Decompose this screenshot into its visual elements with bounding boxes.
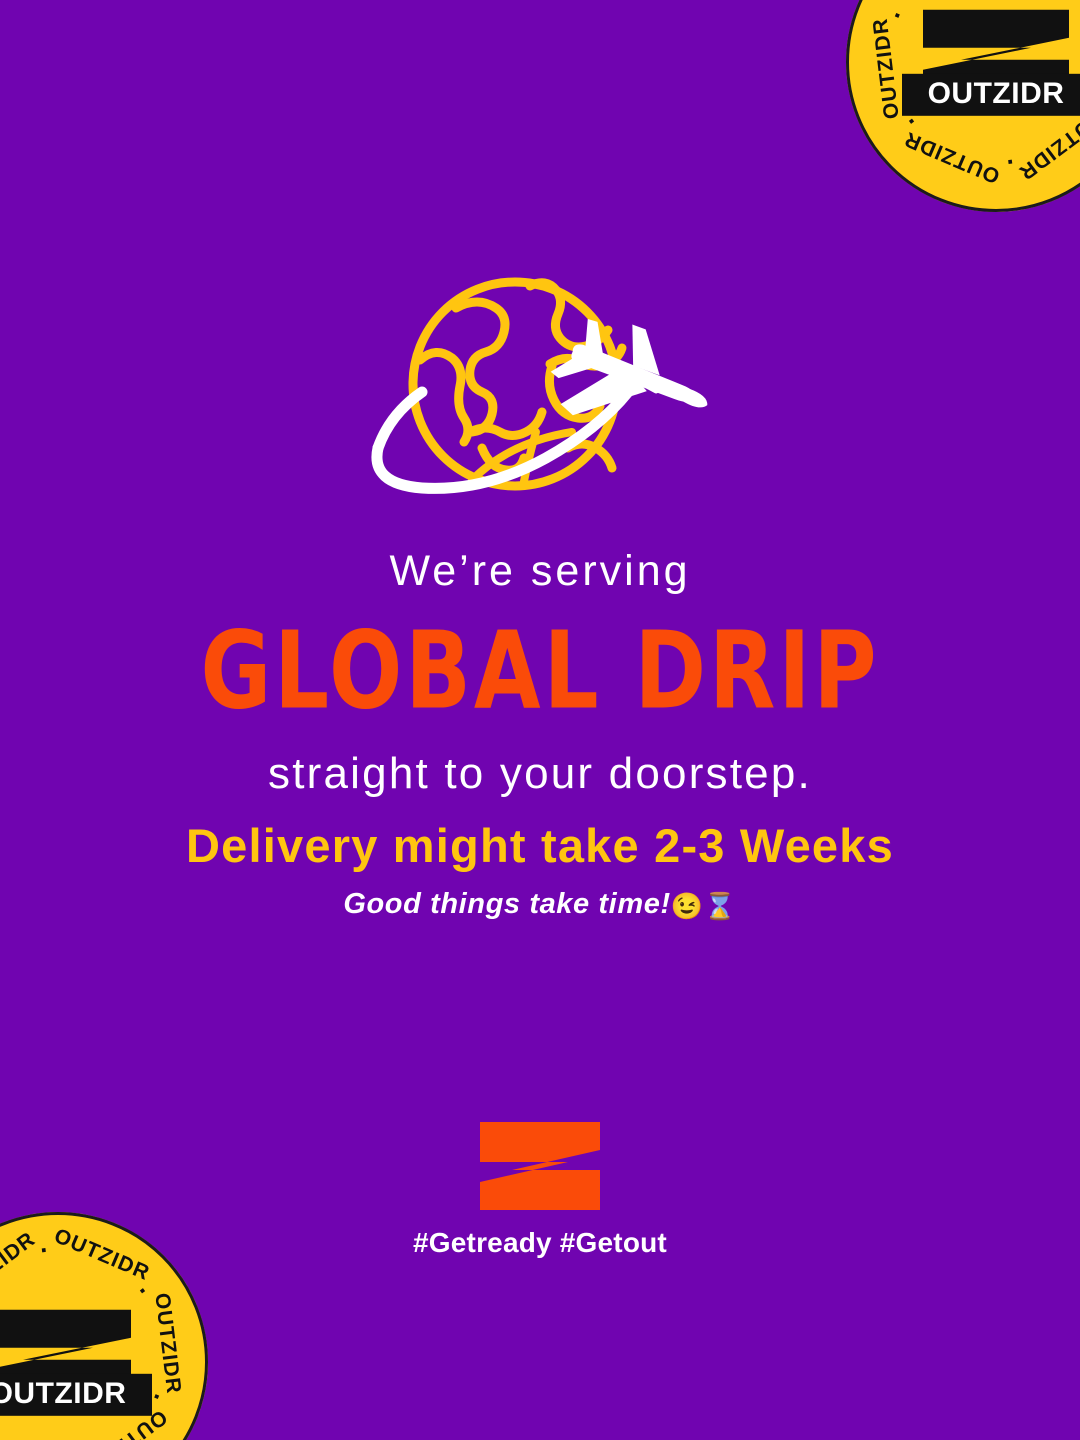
headline-line-3: straight to your doorstep. bbox=[0, 752, 1080, 796]
hero-illustration bbox=[0, 272, 1080, 522]
delivery-subnote: Good things take time!😉⌛ bbox=[0, 889, 1080, 921]
delivery-block: Delivery might take 2-3 Weeks Good thing… bbox=[0, 820, 1080, 921]
headline-line-1: We’re serving bbox=[0, 550, 1080, 593]
poster-canvas: We’re serving GLOBAL DRIP straight to yo… bbox=[0, 0, 1080, 1440]
outzidr-z-logo bbox=[478, 1120, 602, 1212]
delivery-notice: Delivery might take 2-3 Weeks bbox=[0, 820, 1080, 872]
badge-center-word: OUTZIDR bbox=[902, 74, 1080, 116]
wink-face-emoji: 😉 bbox=[671, 891, 704, 921]
delivery-subnote-text: Good things take time! bbox=[343, 888, 670, 920]
headline-line-2: GLOBAL DRIP bbox=[11, 617, 1069, 724]
badge-core: OUTZIDR bbox=[0, 1308, 152, 1416]
hourglass-emoji: ⌛ bbox=[704, 891, 737, 921]
outzidr-sticker-badge-top-right: OUTZIDR·OUTZIDR·OUTZIDR·OUTZIDR·OUTZIDR·… bbox=[846, 0, 1080, 212]
badge-core: OUTZIDR bbox=[902, 8, 1080, 116]
globe-airplane-icon bbox=[360, 272, 720, 522]
headline-block: We’re serving GLOBAL DRIP straight to yo… bbox=[0, 550, 1080, 796]
badge-center-word: OUTZIDR bbox=[0, 1374, 152, 1416]
outzidr-sticker-badge-bottom-left: OUTZIDR·OUTZIDR·OUTZIDR·OUTZIDR·OUTZIDR·… bbox=[0, 1212, 208, 1440]
